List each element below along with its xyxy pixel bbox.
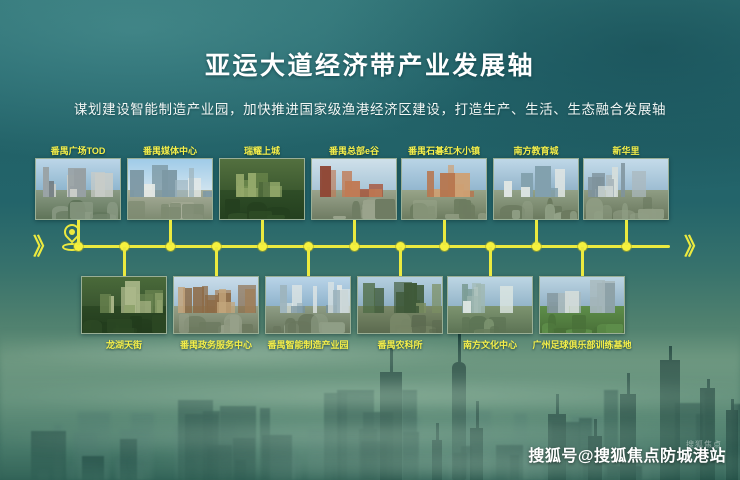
timeline-stem-top-4	[443, 220, 446, 245]
project-card-top-6[interactable]: 新华里	[583, 144, 669, 222]
thumb-structure	[70, 189, 76, 197]
thumb-structure	[203, 191, 213, 197]
project-label: 瑞耀上城	[244, 144, 280, 157]
timeline-stem-top-0	[77, 220, 80, 245]
timeline-stem-top-6	[625, 220, 628, 245]
project-label: 番禺农科所	[377, 338, 422, 351]
project-thumbnail[interactable]	[127, 158, 213, 220]
thumb-foliage	[333, 216, 346, 219]
chevron-right-arrow-icon: 》	[684, 234, 710, 258]
chevron-left-arrow-icon: 》	[33, 234, 59, 258]
timeline-stem-bottom-5	[581, 247, 584, 276]
project-thumbnail[interactable]	[539, 276, 625, 334]
project-card-bottom-3[interactable]: 番禺农科所	[357, 276, 443, 352]
thumb-structure	[440, 173, 454, 198]
project-thumbnail[interactable]	[173, 276, 259, 334]
thumb-structure	[320, 166, 331, 198]
project-card-top-5[interactable]: 南方教育城	[493, 144, 579, 222]
project-label: 番禺广场TOD	[51, 144, 106, 157]
poster-stage: 亚运大道经济带产业发展轴 谋划建设智能制造产业园，加快推进国家级渔港经济区建设，…	[0, 0, 740, 480]
thumb-structure	[217, 302, 235, 313]
thumb-structure	[363, 283, 374, 313]
thumb-foliage	[462, 317, 470, 333]
project-thumbnail[interactable]	[265, 276, 351, 334]
project-label: 番禺政务服务中心	[180, 338, 252, 351]
thumb-structure	[248, 173, 256, 198]
thumb-structure	[178, 287, 185, 313]
thumb-structure	[432, 284, 441, 313]
thumb-structure	[345, 181, 360, 197]
thumb-structure	[394, 282, 411, 312]
thumb-structure	[43, 167, 49, 197]
project-thumbnail[interactable]	[447, 276, 533, 334]
thumb-structure	[202, 286, 208, 312]
project-card-top-3[interactable]: 番禺总部e谷	[311, 144, 397, 222]
page-subtitle: 谋划建设智能制造产业园，加快推进国家级渔港经济区建设，打造生产、生活、生态融合发…	[0, 98, 740, 118]
project-card-top-1[interactable]: 番禺媒体中心	[127, 144, 213, 222]
thumb-foliage	[597, 324, 611, 333]
project-label: 新华里	[612, 144, 639, 157]
thumb-structure	[453, 173, 470, 198]
thumb-foliage	[161, 204, 169, 219]
thumb-structure	[157, 300, 162, 313]
thumb-foliage	[463, 205, 475, 219]
project-label: 南方文化中心	[463, 338, 517, 351]
thumb-structure	[565, 291, 579, 313]
thumb-structure	[130, 170, 143, 198]
project-thumbnail[interactable]	[357, 276, 443, 334]
thumb-foliage	[490, 326, 500, 333]
project-label: 番禺总部e谷	[329, 144, 379, 157]
project-card-bottom-5[interactable]: 广州足球俱乐部训练基地	[539, 276, 625, 352]
thumb-structure	[550, 188, 557, 197]
thumb-foliage	[429, 329, 437, 333]
project-thumbnail[interactable]	[583, 158, 669, 220]
thumb-foliage	[83, 320, 102, 333]
pin-dot	[69, 229, 75, 235]
thumb-structure	[100, 294, 111, 313]
thumb-foliage	[179, 314, 189, 333]
project-thumbnail[interactable]	[311, 158, 397, 220]
project-label: 南方教育城	[513, 144, 558, 157]
thumb-structure	[313, 286, 318, 313]
project-thumbnail[interactable]	[35, 158, 121, 220]
thumb-structure	[175, 180, 188, 197]
timeline-stem-top-3	[353, 220, 356, 245]
thumb-foliage	[70, 202, 93, 219]
timeline-stem-top-1	[169, 220, 172, 245]
thumb-structure	[598, 186, 613, 197]
thumb-foliage	[352, 201, 360, 219]
thumb-foliage	[638, 209, 663, 219]
thumb-foliage	[512, 210, 520, 219]
thumb-structure	[590, 280, 605, 312]
thumb-foliage	[572, 315, 586, 333]
thumb-foliage	[545, 204, 555, 219]
thumb-foliage	[152, 315, 167, 333]
thumb-foliage	[128, 201, 145, 219]
project-card-bottom-4[interactable]: 南方文化中心	[447, 276, 533, 352]
thumb-foliage	[412, 315, 426, 333]
thumb-structure	[621, 163, 625, 197]
thumb-foliage	[413, 200, 437, 219]
thumb-structure	[291, 306, 306, 313]
thumb-foliage	[570, 211, 577, 219]
thumb-structure	[124, 305, 135, 313]
project-card-top-2[interactable]: 瑞耀上城	[219, 144, 305, 222]
project-label: 番禺石碁红木小镇	[408, 144, 480, 157]
timeline-stem-bottom-3	[399, 247, 402, 276]
thumb-structure	[369, 189, 381, 198]
thumb-structure	[140, 301, 151, 313]
thumb-foliage	[224, 314, 242, 333]
thumb-foliage	[182, 204, 205, 219]
thumb-structure	[95, 173, 113, 198]
project-label: 广州足球俱乐部训练基地	[532, 338, 631, 351]
timeline-stem-bottom-4	[489, 247, 492, 276]
thumb-structure	[521, 187, 530, 197]
project-label: 番禺媒体中心	[143, 144, 197, 157]
project-card-top-0[interactable]: 番禺广场TOD	[35, 144, 121, 222]
thumb-foliage	[390, 313, 411, 333]
thumb-foliage	[622, 203, 629, 219]
thumb-structure	[463, 301, 471, 313]
thumb-structure	[259, 182, 270, 197]
project-card-bottom-2[interactable]: 番禺智能制造产业园	[265, 276, 351, 352]
thumb-structure	[427, 171, 435, 197]
thumb-foliage	[601, 205, 612, 219]
thumb-structure	[374, 288, 384, 313]
thumb-structure	[472, 283, 481, 313]
thumb-structure	[189, 168, 194, 198]
watermark: 搜狐号@搜狐焦点防城港站	[528, 442, 726, 466]
thumb-structure	[504, 181, 512, 198]
project-thumbnail[interactable]	[219, 158, 305, 220]
thumb-structure	[268, 186, 283, 198]
thumb-foliage	[249, 211, 272, 219]
thumb-foliage	[273, 326, 281, 333]
project-label: 番禺智能制造产业园	[267, 338, 348, 351]
thumb-structure	[500, 286, 513, 313]
project-card-top-4[interactable]: 番禺石碁红木小镇	[401, 144, 487, 222]
timeline-stem-top-2	[261, 220, 264, 245]
thumb-structure	[414, 306, 419, 313]
thumb-structure	[340, 289, 351, 313]
project-label: 龙湖天街	[106, 338, 142, 351]
thumb-foliage	[288, 321, 311, 334]
thumb-foliage	[522, 201, 532, 219]
thumb-sky	[448, 277, 532, 306]
thumb-foliage	[134, 319, 153, 333]
timeline-stem-bottom-0	[123, 247, 126, 276]
thumb-foliage	[107, 319, 132, 333]
thumb-foliage	[478, 213, 487, 219]
thumb-foliage	[170, 203, 180, 219]
thumb-structure	[535, 166, 551, 197]
timeline-stem-bottom-1	[215, 247, 218, 276]
timeline-stem-top-5	[535, 220, 538, 245]
thumb-structure	[280, 285, 288, 313]
project-card-bottom-0[interactable]: 龙湖天街	[81, 276, 167, 352]
thumb-foliage	[322, 323, 345, 333]
thumb-structure	[632, 171, 646, 198]
project-thumbnail[interactable]	[401, 158, 487, 220]
thumb-structure	[238, 285, 255, 313]
project-card-bottom-1[interactable]: 番禺政务服务中心	[173, 276, 259, 352]
thumb-foliage	[548, 314, 557, 333]
thumb-structure	[142, 184, 155, 197]
page-title: 亚运大道经济带产业发展轴	[0, 46, 740, 82]
project-thumbnail[interactable]	[81, 276, 167, 334]
timeline-stem-bottom-2	[307, 247, 310, 276]
thumb-foliage	[241, 324, 253, 333]
project-thumbnail[interactable]	[493, 158, 579, 220]
thumb-foliage	[375, 199, 395, 219]
